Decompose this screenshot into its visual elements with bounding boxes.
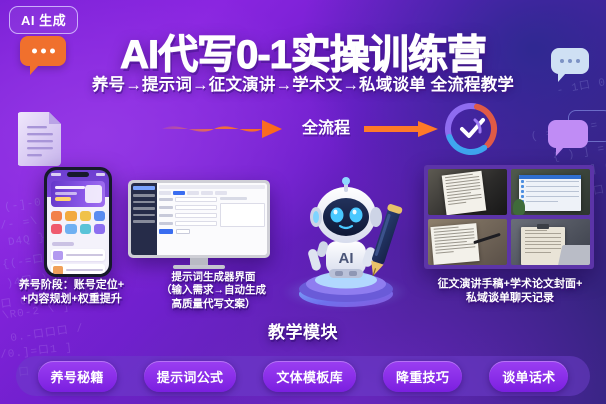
admin-form[interactable] — [159, 197, 217, 234]
app-icon-grid[interactable] — [51, 211, 105, 234]
progress-ring-check-icon — [440, 98, 502, 160]
modules-heading: 教学模块 — [0, 318, 606, 343]
promo-banner: (-]-0 ]1 /- =\ 0|0 D4Q }/ {(-=口2 )4口 ) (… — [0, 0, 606, 404]
photo-hand-holding-document — [428, 169, 507, 215]
module-pill-prompt-formula[interactable]: 提示词公式 — [144, 361, 237, 392]
photo-screen-checklist — [511, 169, 590, 215]
monitor-screen — [128, 180, 270, 258]
document-icon — [18, 108, 64, 166]
monitor-base — [173, 265, 225, 269]
photo-grid — [424, 165, 594, 269]
module-pill-template-library[interactable]: 文体模板库 — [263, 361, 356, 392]
flow-row: 全流程 — [150, 102, 480, 156]
admin-preview-pane — [220, 197, 265, 234]
caption-left: 养号阶段：账号定位+ +内容规划+权重提升 — [0, 278, 143, 306]
page-subtitle: 养号→提示词→征文演讲→学术文→私域谈单 全流程教学 — [0, 71, 606, 95]
module-pill-sales-script[interactable]: 谈单话术 — [489, 361, 568, 392]
module-pill-reduce-duplication[interactable]: 降重技巧 — [383, 361, 462, 392]
arrow-right-icon — [162, 118, 282, 140]
photo-papers-on-desk — [428, 219, 507, 265]
modules-pill-bar: 养号秘籍 提示词公式 文体模板库 降重技巧 谈单话术 — [16, 356, 590, 396]
monitor-stand — [190, 258, 208, 265]
desktop-monitor-mockup — [128, 180, 270, 266]
caption-middle: 提示词生成器界面 （输入需求→自动生成 高质量代写文案） — [143, 271, 284, 311]
speech-bubble-icon — [548, 120, 588, 148]
phone-mockup — [44, 167, 112, 277]
admin-sidebar[interactable] — [131, 183, 157, 255]
admin-tabs[interactable] — [159, 191, 265, 195]
photo-clipboard-with-laptop — [511, 219, 590, 265]
admin-main-panel — [157, 183, 267, 255]
flow-label: 全流程 — [290, 114, 362, 138]
module-pill-yanghao[interactable]: 养号秘籍 — [38, 361, 117, 392]
list-item[interactable] — [51, 249, 105, 261]
arrow-right-icon — [364, 121, 438, 137]
caption-right: 征文演讲手稿+学术论文封面+ 私域谈单聊天记录 — [420, 277, 600, 305]
app-content-list[interactable] — [51, 242, 105, 274]
app-banner[interactable] — [51, 181, 105, 207]
form-buttons[interactable] — [159, 229, 217, 234]
robot-chest-label: AI — [339, 250, 354, 267]
phone-screen — [47, 170, 109, 274]
list-item[interactable] — [51, 264, 105, 274]
ai-robot-icon: AI — [288, 163, 404, 311]
phone-notch — [67, 172, 89, 177]
